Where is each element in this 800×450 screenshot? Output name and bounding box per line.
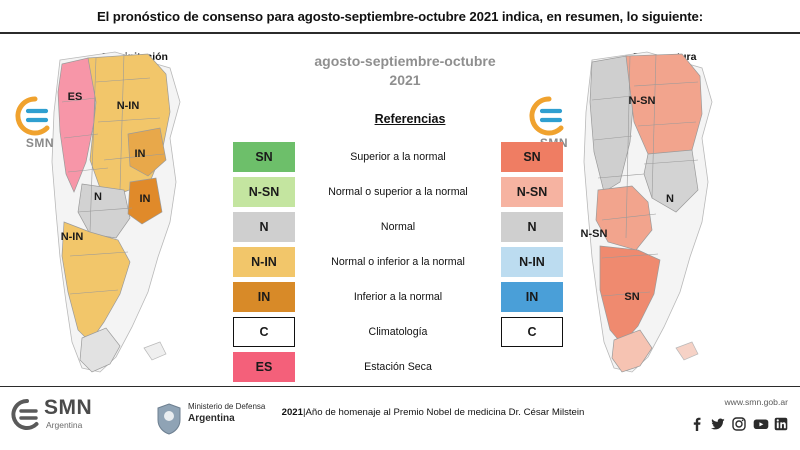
footer-smn-logo: SMN Argentina: [10, 395, 130, 441]
legend-chip-precipitation: IN: [233, 282, 295, 312]
legend-row: ESEstación Seca: [233, 349, 563, 384]
map-label-n-mid: N: [666, 193, 674, 205]
forecast-period-line2: 2021: [290, 71, 520, 90]
legend-chip-temperature: C: [501, 317, 563, 347]
forecast-period-line1: agosto-septiembre-octubre: [290, 52, 520, 71]
twitter-icon[interactable]: [711, 417, 725, 431]
map-label-n-sn-west: N-SN: [581, 228, 608, 240]
smn-glyph-icon: [10, 399, 44, 431]
legend-label: Normal o inferior a la normal: [295, 256, 501, 268]
legend-label: Climatología: [295, 326, 501, 338]
social-links: [690, 417, 788, 431]
footer-text: Año de homenaje al Premio Nobel de medic…: [305, 407, 584, 418]
legend-chip-precipitation: SN: [233, 142, 295, 172]
page-footer: SMN Argentina Ministerio de Defensa Arge…: [0, 386, 800, 450]
legend-row: CClimatologíaC: [233, 314, 563, 349]
youtube-icon[interactable]: [753, 417, 767, 431]
smn-glyph-icon: [528, 96, 570, 136]
map-label-in-east: IN: [140, 193, 151, 205]
legend-chip-temperature: IN: [501, 282, 563, 312]
legend-chip-precipitation: N: [233, 212, 295, 242]
ministry-line2: Argentina: [188, 413, 235, 424]
linkedin-icon[interactable]: [774, 417, 788, 431]
legend-label: Normal o superior a la normal: [295, 186, 501, 198]
map-label-n-in-north: N-IN: [117, 100, 140, 112]
page-header: El pronóstico de consenso para agosto-se…: [0, 0, 800, 34]
legend-row: N-SNNormal o superior a la normalN-SN: [233, 174, 563, 209]
legend-label: Normal: [295, 221, 501, 233]
legend-chip-temperature: SN: [501, 142, 563, 172]
footer-argentina-text: Argentina: [46, 420, 82, 430]
legend-label: Estación Seca: [295, 361, 501, 373]
island-shape: [676, 342, 698, 360]
main-content: Precipitación Temperatura: [0, 34, 800, 386]
legend-table: SNSuperior a la normalSNN-SNNormal o sup…: [233, 139, 563, 384]
argentina-shield-icon: [154, 402, 184, 436]
smn-logo-text: SMN: [8, 136, 72, 150]
legend-row: SNSuperior a la normalSN: [233, 139, 563, 174]
smn-logo-precipitation: SMN: [8, 96, 72, 158]
footer-message: 2021|Año de homenaje al Premio Nobel de …: [268, 407, 598, 418]
map-label-sn-south: SN: [624, 291, 639, 303]
legend-chip-precipitation: ES: [233, 352, 295, 382]
ministry-logo: Ministerio de Defensa Argentina: [152, 399, 302, 439]
temperature-map: N-SN N N-SN SN: [552, 42, 782, 382]
legend-row: INInferior a la normalIN: [233, 279, 563, 314]
references-title: Referencias: [315, 112, 505, 126]
map-label-n-in-south: N-IN: [61, 231, 84, 243]
footer-year: 2021: [282, 407, 303, 418]
map-label-n-sn-north: N-SN: [629, 95, 656, 107]
map-label-in-ne: IN: [135, 148, 146, 160]
facebook-icon[interactable]: [690, 417, 704, 431]
ministry-line1: Ministerio de Defensa: [188, 402, 265, 411]
precipitation-map: ES N-IN IN N IN N-IN: [20, 42, 250, 382]
page-title: El pronóstico de consenso para agosto-se…: [97, 9, 703, 24]
legend-row: N-INNormal o inferior a la normalN-IN: [233, 244, 563, 279]
footer-smn-text: SMN: [44, 396, 92, 420]
legend-chip-temperature: N-IN: [501, 247, 563, 277]
legend-chip-precipitation: C: [233, 317, 295, 347]
legend-row: NNormalN: [233, 209, 563, 244]
instagram-icon[interactable]: [732, 417, 746, 431]
legend-chip-temperature: N: [501, 212, 563, 242]
legend-label: Superior a la normal: [295, 151, 501, 163]
footer-website[interactable]: www.smn.gob.ar: [724, 397, 788, 407]
smn-glyph-icon: [14, 96, 56, 136]
island-shape: [144, 342, 166, 360]
legend-chip-precipitation: N-SN: [233, 177, 295, 207]
legend-label: Inferior a la normal: [295, 291, 501, 303]
map-label-n-center: N: [94, 191, 102, 203]
forecast-period: agosto-septiembre-octubre 2021: [290, 52, 520, 90]
legend-chip-precipitation: N-IN: [233, 247, 295, 277]
legend-chip-temperature: N-SN: [501, 177, 563, 207]
